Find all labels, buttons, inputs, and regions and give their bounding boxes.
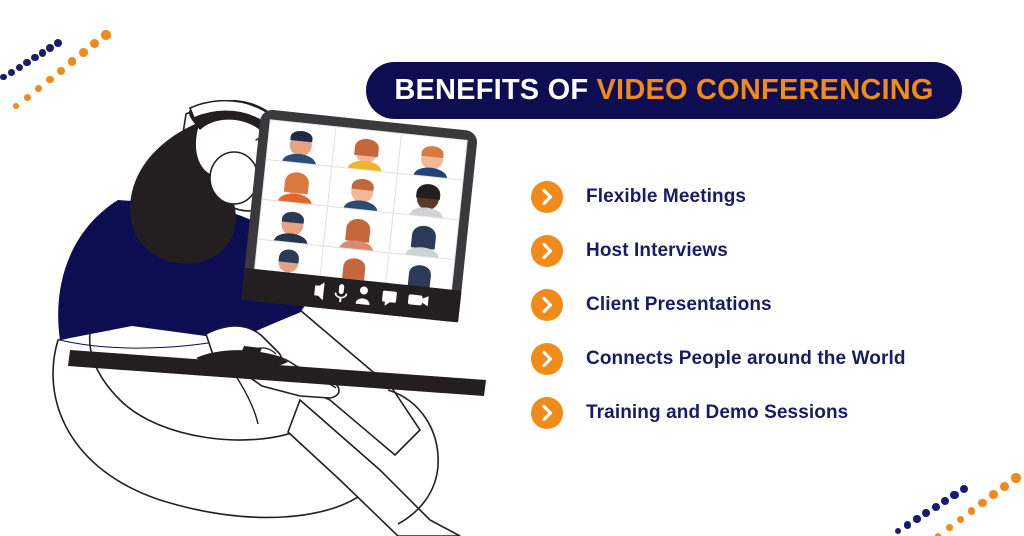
monitor — [241, 109, 478, 323]
participant-tile — [397, 134, 467, 181]
participant-tile — [262, 160, 332, 207]
decoration-dot-orange — [957, 516, 964, 523]
decoration-dot-navy — [46, 44, 54, 52]
decoration-dot-navy — [54, 39, 62, 47]
chevron-right-icon — [531, 289, 563, 321]
decoration-dot-navy — [960, 485, 969, 494]
decoration-dots-bottom-right — [890, 455, 1024, 536]
decoration-dot-orange — [968, 507, 976, 515]
list-item[interactable]: Host Interviews — [531, 234, 991, 268]
list-item-label: Host Interviews — [586, 240, 728, 262]
decoration-dot-orange — [101, 30, 110, 39]
chevron-right-icon — [531, 343, 563, 375]
decoration-dot-navy — [31, 54, 39, 62]
decoration-dot-orange — [1000, 482, 1009, 491]
decoration-dot-orange — [68, 57, 76, 65]
participant-tile — [389, 213, 459, 260]
decoration-dot-navy — [895, 528, 902, 535]
chevron-right-icon — [531, 235, 563, 267]
decoration-dot-navy — [913, 515, 920, 522]
decoration-dot-orange — [978, 499, 986, 507]
decoration-dot-navy — [941, 497, 949, 505]
list-item-label: Client Presentations — [586, 294, 772, 316]
decoration-dot-navy — [16, 64, 23, 71]
participant-tile — [323, 206, 393, 253]
list-item[interactable]: Flexible Meetings — [531, 180, 991, 214]
decoration-dot-navy — [922, 509, 930, 517]
decoration-dot-navy — [0, 74, 7, 81]
decoration-dot-orange — [1011, 473, 1020, 482]
chevron-right-icon — [531, 181, 563, 213]
list-item[interactable]: Client Presentations — [531, 288, 991, 322]
decoration-dot-navy — [23, 59, 30, 66]
decoration-dot-navy — [39, 49, 47, 57]
decoration-dot-navy — [904, 521, 911, 528]
decoration-dot-orange — [35, 85, 42, 92]
decoration-dot-orange — [935, 533, 942, 536]
list-item[interactable]: Training and Demo Sessions — [531, 396, 991, 430]
decoration-dot-orange — [90, 39, 99, 48]
decoration-dot-orange — [46, 76, 54, 84]
participant-tile — [332, 127, 402, 174]
decoration-dot-orange — [79, 48, 88, 57]
infographic-canvas: BENEFITS OF VIDEO CONFERENCING Flexible … — [0, 0, 1024, 536]
decoration-dots-top-left — [0, 0, 130, 110]
decoration-dot-navy — [932, 503, 940, 511]
participant-tile — [393, 173, 463, 220]
list-item-label: Connects People around the World — [586, 348, 906, 370]
page-title-accent: VIDEO CONFERENCING — [597, 76, 934, 105]
decoration-dot-navy — [950, 491, 959, 500]
illustration-woman-with-headphones-at-monitor — [0, 100, 500, 536]
list-item[interactable]: Connects People around the World — [531, 342, 991, 376]
video-grid — [254, 120, 467, 298]
headphone-earcup — [210, 152, 258, 204]
decoration-dot-orange — [989, 490, 998, 499]
decoration-dot-navy — [8, 69, 15, 76]
benefits-list: Flexible Meetings Host Interviews Client… — [531, 180, 991, 430]
list-item-label: Training and Demo Sessions — [586, 402, 848, 424]
chevron-right-icon — [531, 397, 563, 429]
participant-tile — [328, 166, 398, 213]
participant-tile — [266, 120, 336, 167]
decoration-dot-orange — [57, 67, 65, 75]
participant-tile — [258, 199, 328, 246]
list-item-label: Flexible Meetings — [586, 186, 746, 208]
decoration-dot-orange — [946, 524, 953, 531]
